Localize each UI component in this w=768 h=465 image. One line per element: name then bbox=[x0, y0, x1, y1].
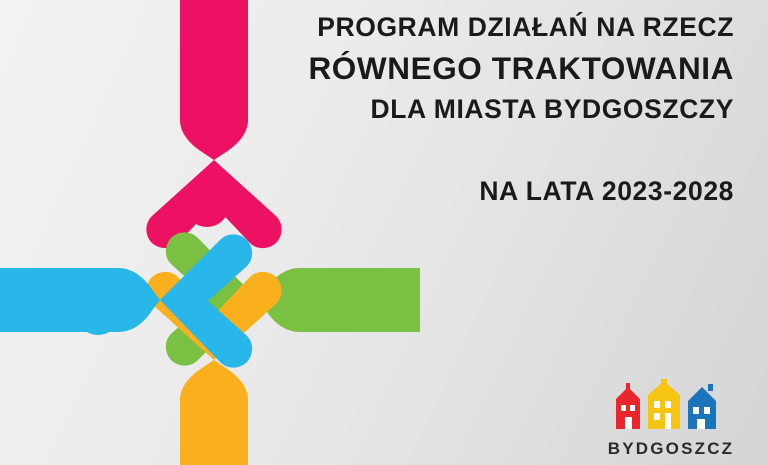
houses-icon bbox=[610, 379, 732, 433]
poster-canvas: PROGRAM DZIAŁAŃ NA RZECZ RÓWNEGO TRAKTOW… bbox=[0, 0, 768, 465]
page-title-line-1: PROGRAM DZIAŁAŃ NA RZECZ bbox=[308, 8, 734, 46]
poster-title-block: PROGRAM DZIAŁAŃ NA RZECZ RÓWNEGO TRAKTOW… bbox=[308, 8, 734, 128]
page-title-line-2: RÓWNEGO TRAKTOWANIA bbox=[308, 46, 734, 90]
house-red bbox=[616, 383, 640, 429]
logo-wordmark: BYDGOSZCZ bbox=[596, 439, 746, 459]
bydgoszcz-logo: BYDGOSZCZ bbox=[596, 379, 746, 461]
page-title-line-3: DLA MIASTA BYDGOSZCZY bbox=[308, 90, 734, 128]
house-yellow bbox=[648, 379, 680, 429]
poster-years: NA LATA 2023-2028 bbox=[479, 176, 734, 207]
figure-top bbox=[146, 0, 281, 248]
house-blue bbox=[688, 384, 716, 429]
